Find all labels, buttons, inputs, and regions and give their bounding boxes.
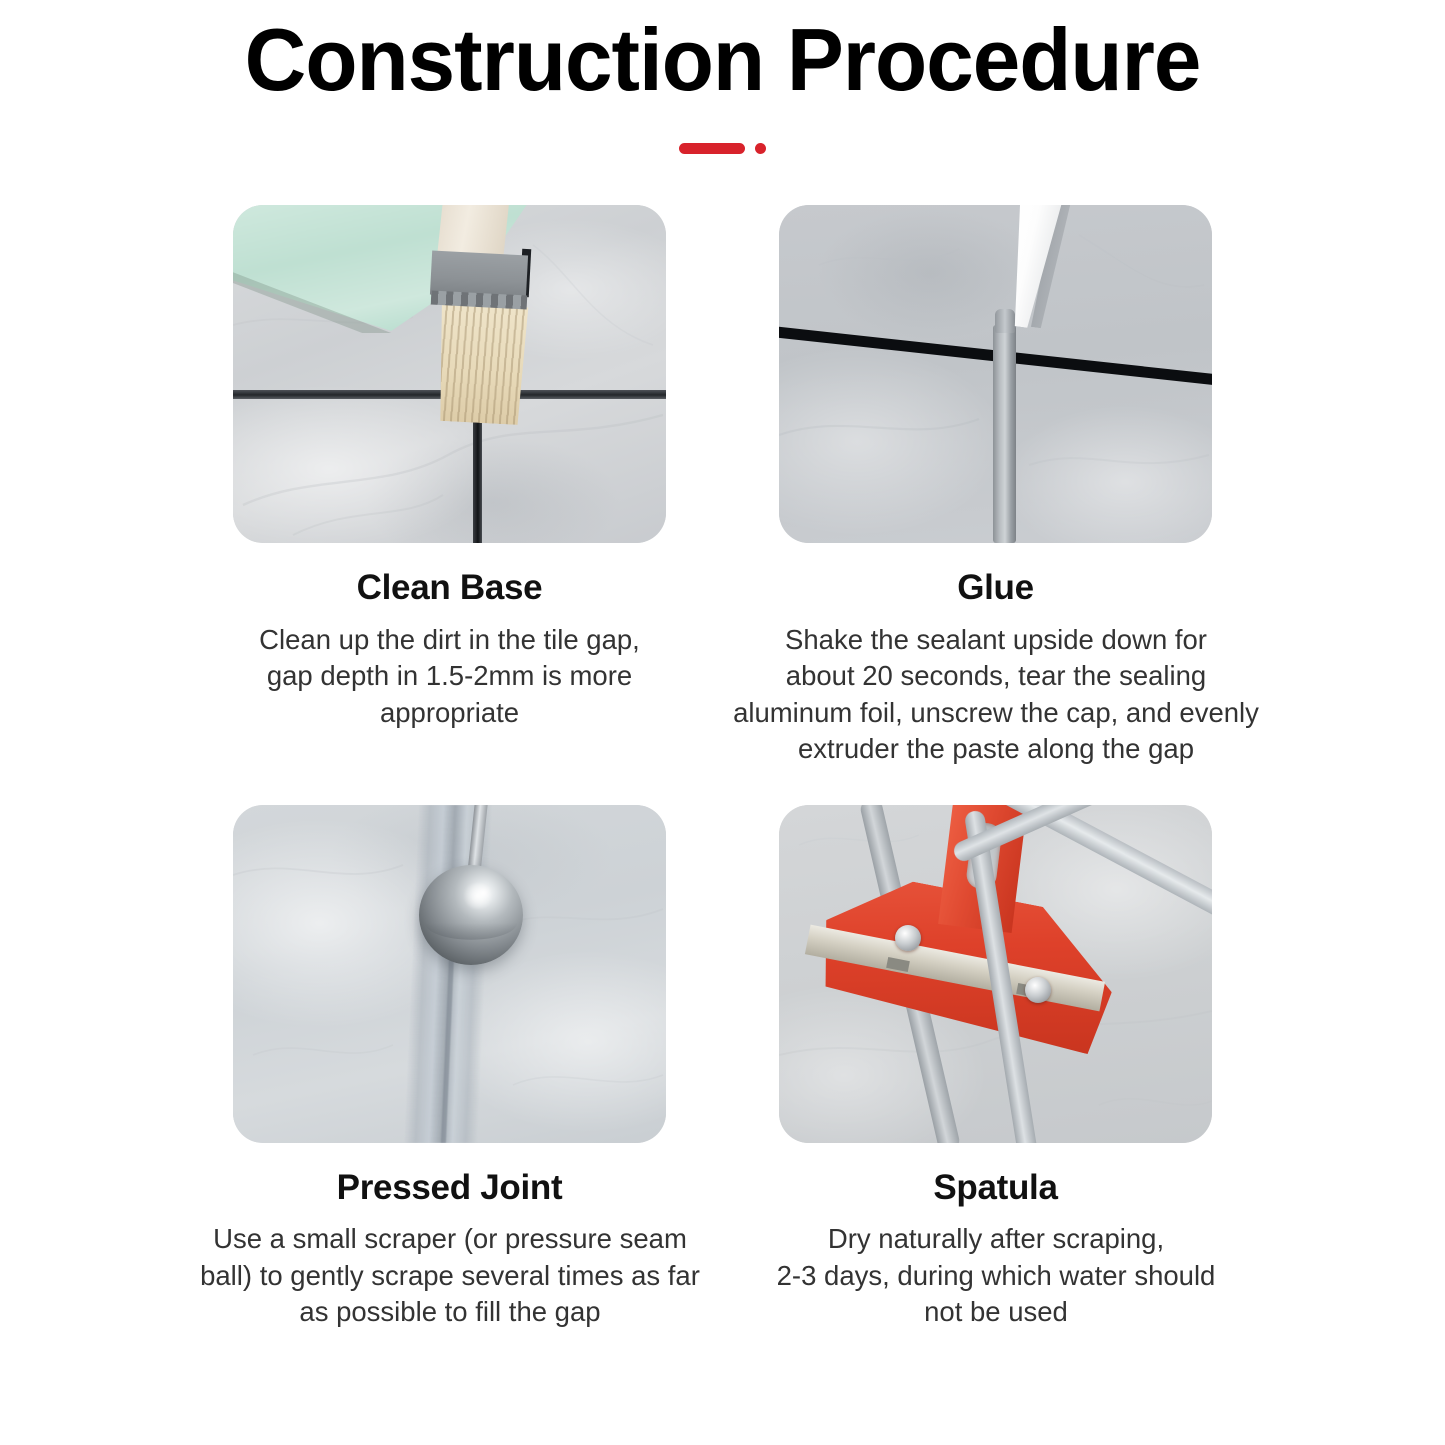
step-photo-clean-base — [233, 205, 666, 543]
step-photo-spatula — [779, 805, 1212, 1143]
sealant-bead-tip — [995, 309, 1015, 333]
step-card-spatula: Spatula Dry naturally after scraping, 2-… — [779, 805, 1212, 1331]
brush-bristles-icon — [433, 303, 531, 426]
page-header: Construction Procedure — [0, 0, 1445, 156]
step-title-pressed-joint: Pressed Joint — [233, 1169, 666, 1208]
scraper-screw-icon — [895, 925, 921, 951]
step-card-pressed-joint: Pressed Joint Use a small scraper (or pr… — [233, 805, 666, 1331]
step-title-spatula: Spatula — [779, 1169, 1212, 1208]
step-caption-spatula: Spatula Dry naturally after scraping, 2-… — [779, 1143, 1212, 1331]
steps-row-bottom: Pressed Joint Use a small scraper (or pr… — [0, 805, 1445, 1331]
scraper-screw-icon — [1025, 977, 1051, 1003]
step-caption-clean-base: Clean Base Clean up the dirt in the tile… — [233, 543, 666, 731]
page-title: Construction Procedure — [22, 14, 1424, 106]
step-card-clean-base: Clean Base Clean up the dirt in the tile… — [233, 205, 666, 768]
step-photo-glue — [779, 205, 1212, 543]
steps-grid: Clean Base Clean up the dirt in the tile… — [0, 205, 1445, 1331]
step-title-glue: Glue — [779, 569, 1212, 608]
sealant-bead-icon — [993, 325, 1016, 543]
step-title-clean-base: Clean Base — [233, 569, 666, 608]
step-photo-pressed-joint — [233, 805, 666, 1143]
step-card-glue: Glue Shake the sealant upside down for a… — [779, 205, 1212, 768]
seam-ball-highlight — [461, 883, 495, 909]
divider-bar-icon — [679, 143, 745, 154]
title-divider — [0, 142, 1445, 156]
step-body-spatula: Dry naturally after scraping, 2-3 days, … — [726, 1221, 1266, 1331]
step-body-glue: Shake the sealant upside down for about … — [726, 622, 1266, 768]
step-body-pressed-joint: Use a small scraper (or pressure seam ba… — [180, 1221, 720, 1331]
step-caption-pressed-joint: Pressed Joint Use a small scraper (or pr… — [233, 1143, 666, 1331]
divider-dot-icon — [755, 143, 766, 154]
steps-row-top: Clean Base Clean up the dirt in the tile… — [0, 205, 1445, 768]
seam-ball-icon — [419, 865, 523, 965]
step-caption-glue: Glue Shake the sealant upside down for a… — [779, 543, 1212, 768]
step-body-clean-base: Clean up the dirt in the tile gap, gap d… — [233, 622, 666, 732]
